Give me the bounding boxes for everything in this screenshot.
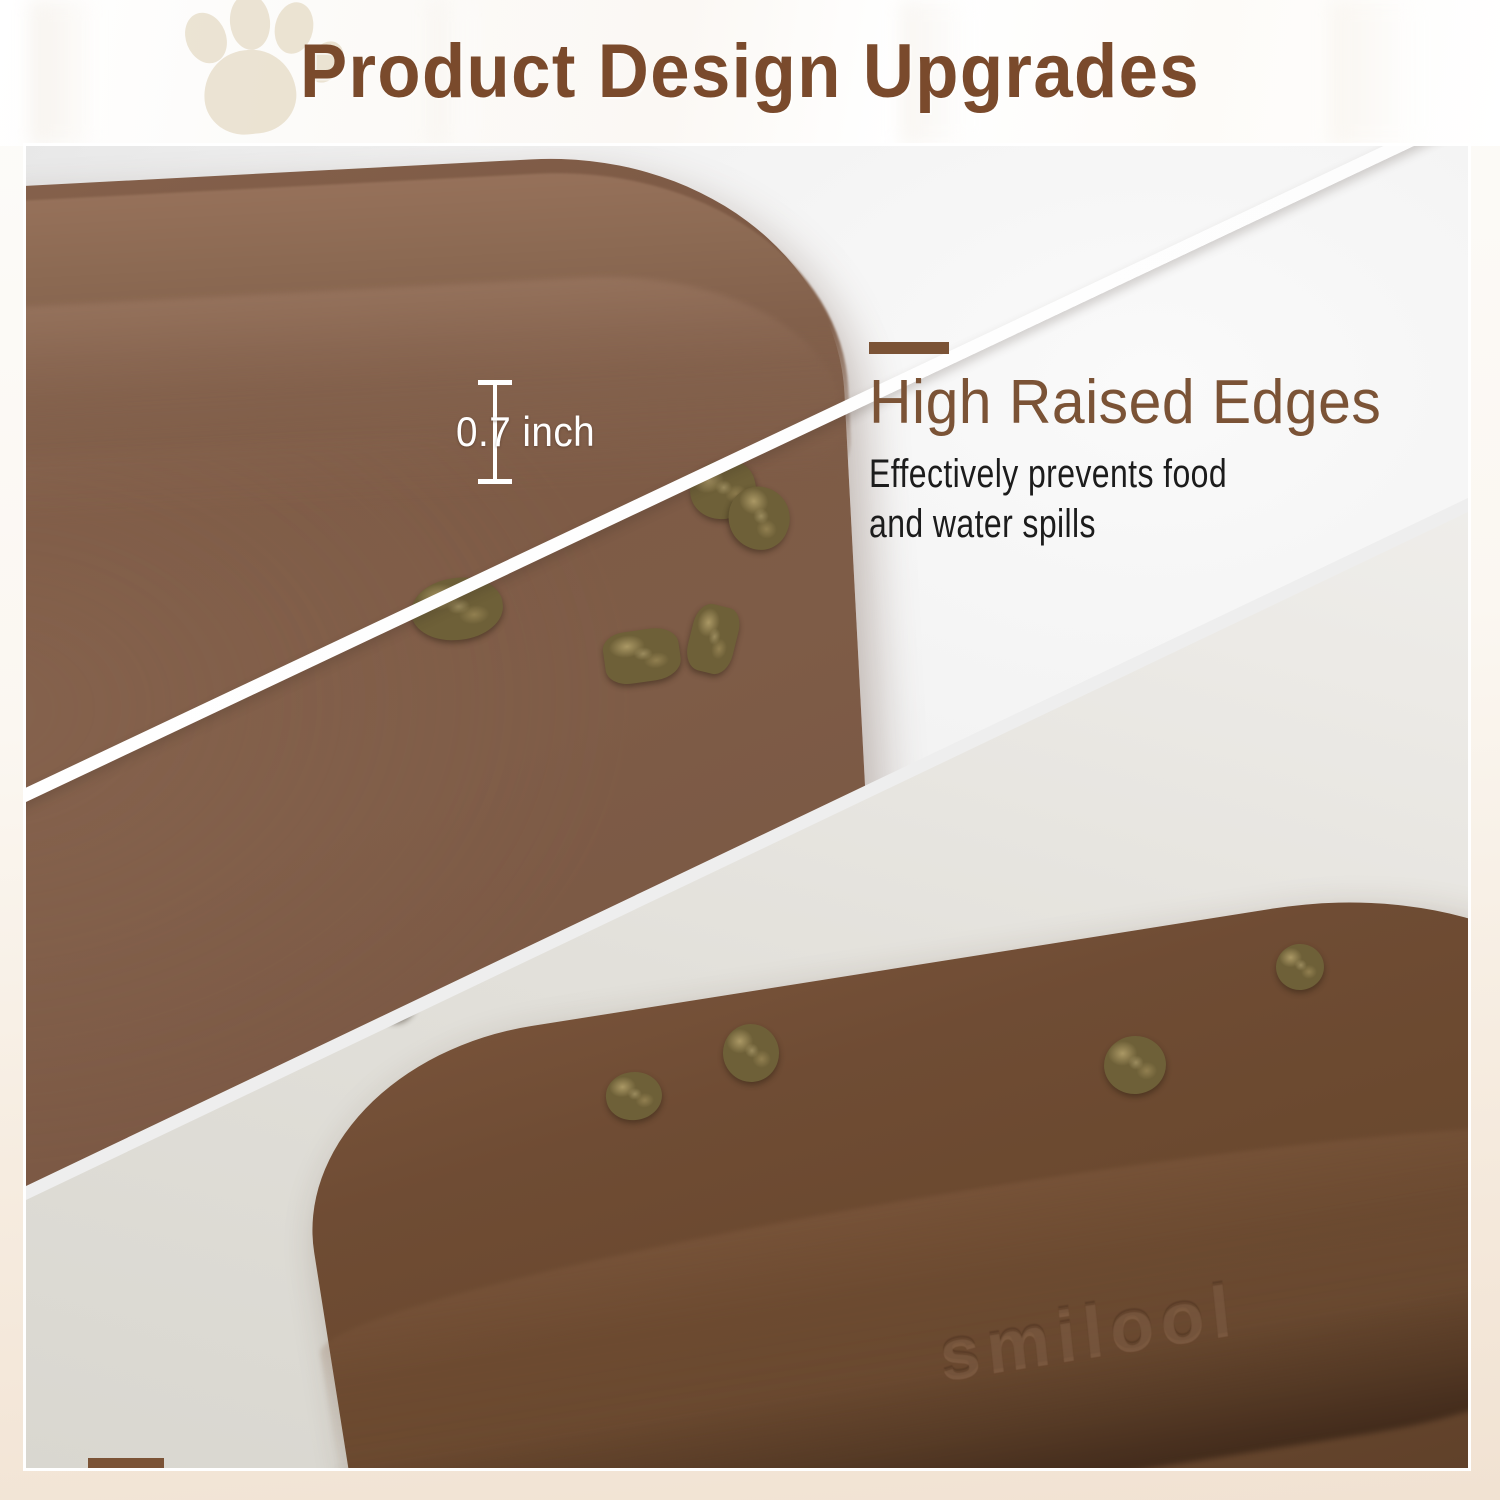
accent-rule [869, 342, 949, 354]
photo-frame: smilool 0.7 inch High Raised Edges Effec… [26, 146, 1468, 1468]
product-infographic: Product Design Upgrades smilool [0, 0, 1500, 1500]
callout-high-raised-edges: High Raised Edges Effectively prevents f… [869, 342, 1408, 549]
callout-heading: High Raised Edges [869, 370, 1381, 435]
banner: Product Design Upgrades [0, 0, 1500, 146]
page-title: Product Design Upgrades [53, 28, 1448, 115]
callout-keeping-floor-clean: Keeping the floor clean Minimizes time s… [88, 1458, 1023, 1468]
dimension-label: 0.7 inch [456, 408, 595, 456]
callout-body: Effectively prevents foodand water spill… [869, 449, 1300, 549]
accent-rule [88, 1458, 164, 1468]
